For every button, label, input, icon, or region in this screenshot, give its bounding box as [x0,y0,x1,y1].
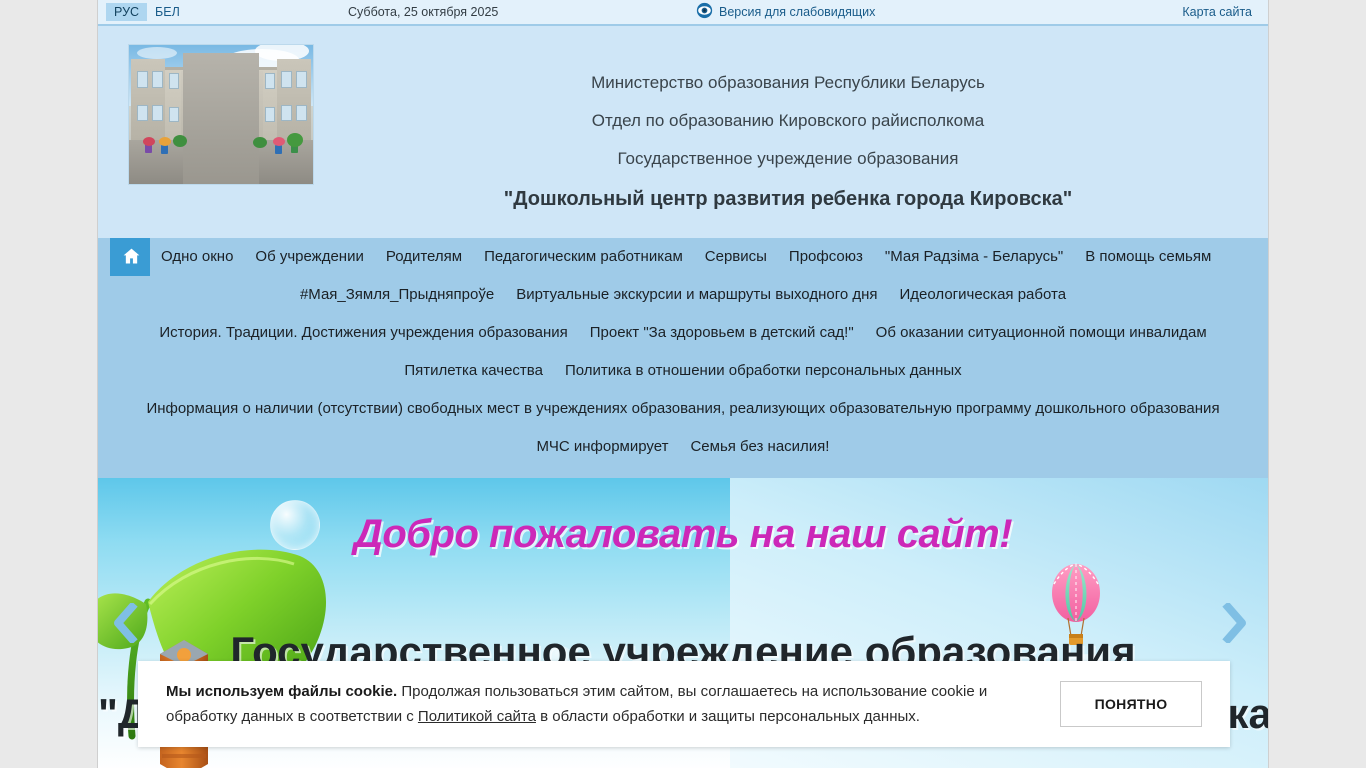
nav-item-disability-assistance[interactable]: Об оказании ситуационной помощи инвалида… [865,314,1218,352]
nav-item-my-homeland[interactable]: "Мая Радзіма - Беларусь" [874,238,1074,276]
page-root: РУС БЕЛ Суббота, 25 октября 2025 Версия … [0,0,1366,768]
nav-item-family-help[interactable]: В помощь семьям [1074,238,1222,276]
site-header: Министерство образования Республики Бела… [98,26,1268,238]
nav-item-health-project[interactable]: Проект "За здоровьем в детский сад!" [579,314,865,352]
header-line-ministry: Министерство образования Республики Бела… [328,64,1248,102]
photo-window [169,73,179,89]
nav-item-my-land-hashtag[interactable]: #Мая_Зямля_Прыдняпроўе [289,276,505,314]
nav-item-history-traditions[interactable]: История. Традиции. Достижения учреждения… [148,314,578,352]
photo-window [152,71,163,88]
header-titles: Министерство образования Республики Бела… [328,64,1248,220]
sitemap-link[interactable]: Карта сайта [1182,5,1252,19]
photo-planter [161,145,168,154]
accessibility-version-link[interactable]: Версия для слабовидящих [696,2,875,22]
nav-item-quality-five-year-plan[interactable]: Пятилетка качества [393,352,554,390]
building-photo [128,44,314,185]
photo-window [281,71,292,88]
cookie-consent-heading: Мы используем файлы cookie. [166,683,397,700]
photo-flowers [143,137,155,146]
nav-row-6: МЧС информирует Семья без насилия! [98,428,1268,466]
main-navigation: Одно окно Об учреждении Родителям Педаго… [98,238,1268,478]
accessibility-version-label: Версия для слабовидящих [719,5,875,19]
slider-prev-button[interactable] [108,603,142,647]
nav-row-1: Одно окно Об учреждении Родителям Педаго… [98,238,1268,276]
eye-icon [696,2,713,22]
nav-row-3: История. Традиции. Достижения учреждения… [98,314,1268,352]
photo-flowers [159,137,171,146]
home-icon [121,253,142,270]
photo-planter [275,145,282,154]
nav-home-button[interactable] [110,238,150,276]
current-date: Суббота, 25 октября 2025 [348,5,498,19]
language-option-ru[interactable]: РУС [106,3,147,21]
site-container: РУС БЕЛ Суббота, 25 октября 2025 Версия … [98,0,1268,768]
cookie-consent-text: Мы используем файлы cookie. Продолжая по… [166,679,1060,729]
photo-window [296,105,307,121]
language-switcher: РУС БЕЛ [106,3,188,21]
cookie-accept-button[interactable]: ПОНЯТНО [1060,681,1202,727]
slide-title: Добро пожаловать на наш сайт! [98,512,1268,557]
chevron-right-icon [1222,603,1248,648]
photo-window [169,107,179,122]
chevron-left-icon [112,603,138,648]
nav-item-family-without-violence[interactable]: Семья без насилия! [679,428,840,466]
cookie-policy-link[interactable]: Политикой сайта [418,708,536,725]
nav-item-virtual-tours[interactable]: Виртуальные экскурсии и маршруты выходно… [505,276,888,314]
cookie-consent-banner: Мы используем файлы cookie. Продолжая по… [138,661,1230,747]
photo-window [265,107,275,122]
header-line-institution-type: Государственное учреждение образования [328,140,1248,178]
photo-walkway-inner [183,53,259,184]
cookie-consent-body-2: в области обработки и защиты персональны… [536,708,920,725]
nav-row-2: #Мая_Зямля_Прыдняпроўе Виртуальные экску… [98,276,1268,314]
nav-item-services[interactable]: Сервисы [694,238,778,276]
nav-item-teachers[interactable]: Педагогическим работникам [473,238,694,276]
photo-window [265,73,275,89]
nav-item-emergency-ministry[interactable]: МЧС информирует [526,428,680,466]
photo-shrub [173,135,187,147]
nav-row-4: Пятилетка качества Политика в отношении … [98,352,1268,390]
nav-item-one-window[interactable]: Одно окно [150,238,244,276]
nav-item-about[interactable]: Об учреждении [244,238,374,276]
photo-window [137,105,148,121]
photo-shrub [287,133,303,147]
header-line-department: Отдел по образованию Кировского райиспол… [328,102,1248,140]
photo-shrub [253,137,267,148]
nav-item-free-places-info[interactable]: Информация о наличии (отсутствии) свобод… [135,390,1230,428]
nav-item-ideological-work[interactable]: Идеологическая работа [889,276,1078,314]
nav-row-5: Информация о наличии (отсутствии) свобод… [98,390,1268,428]
photo-window [137,71,148,88]
photo-flowers [273,137,285,146]
page-title: "Дошкольный центр развития ребенка город… [328,178,1248,220]
top-bar: РУС БЕЛ Суббота, 25 октября 2025 Версия … [98,0,1268,26]
language-option-be[interactable]: БЕЛ [147,3,188,21]
photo-window [296,71,307,88]
nav-item-trade-union[interactable]: Профсоюз [778,238,874,276]
nav-item-personal-data-policy[interactable]: Политика в отношении обработки персональ… [554,352,973,390]
photo-window [281,105,292,121]
photo-cloud [137,47,177,59]
nav-item-parents[interactable]: Родителям [375,238,473,276]
slider-next-button[interactable] [1218,603,1252,647]
photo-window [152,105,163,121]
